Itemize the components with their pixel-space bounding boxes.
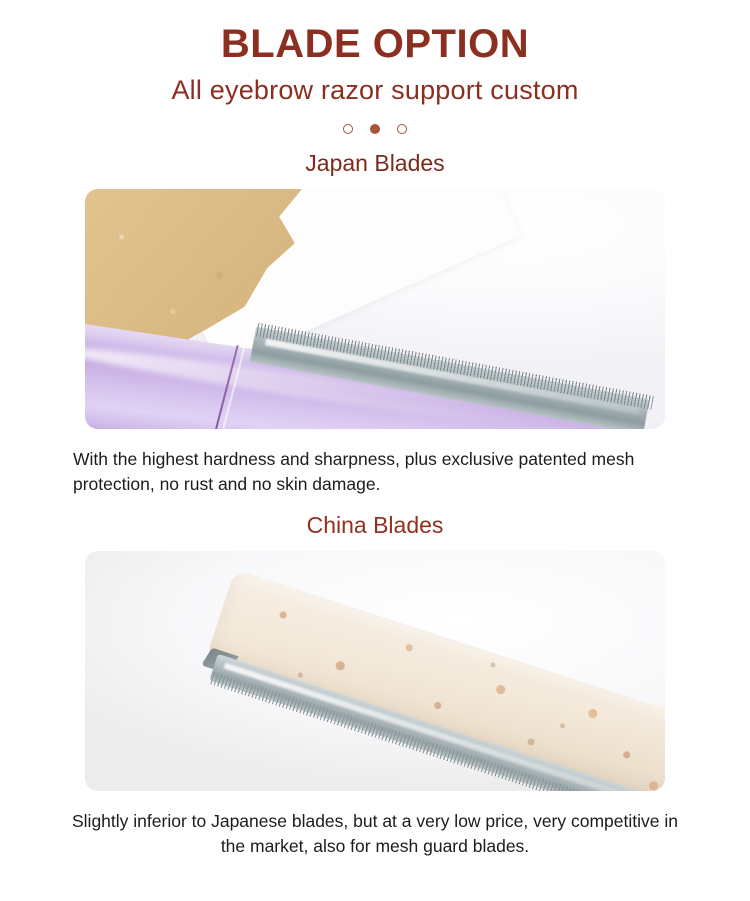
page-subtitle: All eyebrow razor support custom <box>0 77 750 104</box>
description-japan-blades: With the highest hardness and sharpness,… <box>65 447 685 497</box>
product-detail-page: BLADE OPTION All eyebrow razor support c… <box>0 0 750 901</box>
section-heading-japan-blades: Japan Blades <box>0 152 750 175</box>
product-image-japan-blade <box>85 189 665 429</box>
description-china-blades: Slightly inferior to Japanese blades, bu… <box>65 809 685 859</box>
carousel-dot-1[interactable] <box>343 124 353 134</box>
carousel-dot-2-active[interactable] <box>370 124 380 134</box>
page-title: BLADE OPTION <box>0 0 750 64</box>
carousel-dots <box>0 123 750 135</box>
carousel-dot-3[interactable] <box>397 124 407 134</box>
section-heading-china-blades: China Blades <box>0 514 750 537</box>
product-image-china-blade <box>85 551 665 791</box>
